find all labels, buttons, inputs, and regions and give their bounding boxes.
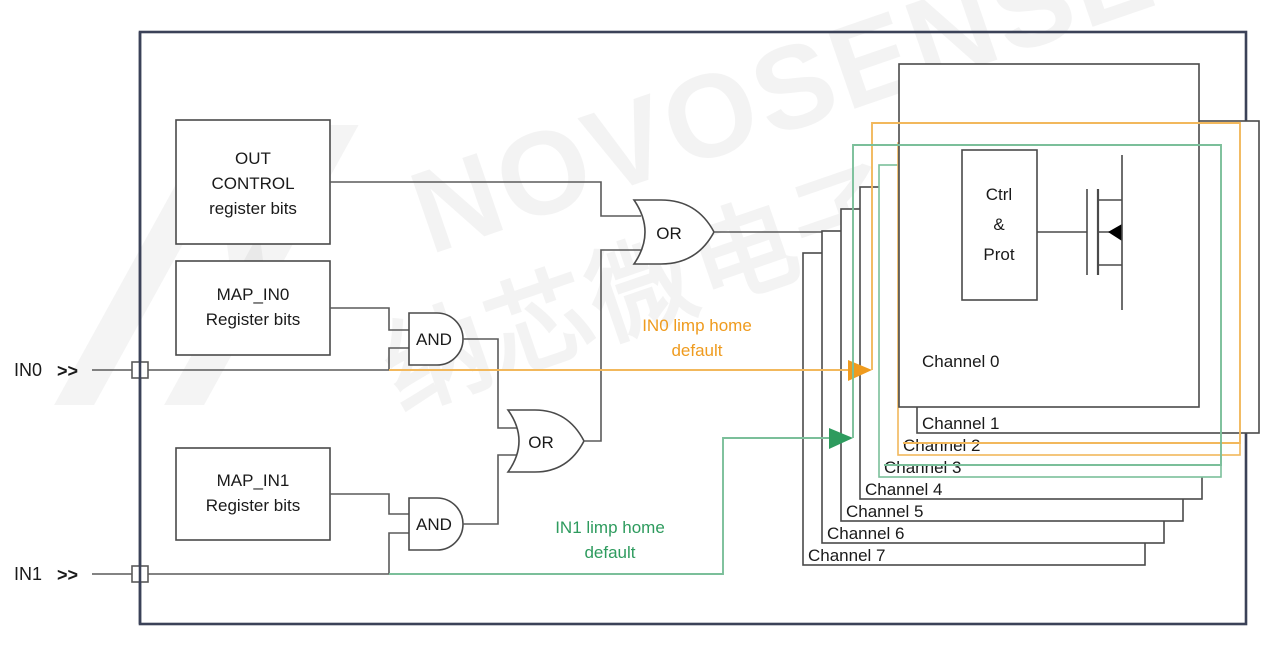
- channel-5-label: Channel 5: [846, 502, 924, 521]
- ctrl-prot-line-1: Ctrl: [986, 185, 1012, 204]
- gate-and-in1-label: AND: [416, 515, 452, 534]
- block-out-control-line-1: OUT: [235, 149, 271, 168]
- block-map-in1: [176, 448, 330, 540]
- channel-7-label: Channel 7: [808, 546, 886, 565]
- annotation-in0-limp-line-1: IN0 limp home: [642, 316, 752, 335]
- gate-or-upper-label: OR: [656, 224, 682, 243]
- annotation-in0-limp-line-2: default: [671, 341, 722, 360]
- ctrl-prot-line-2: &: [993, 215, 1005, 234]
- channel-3-label: Channel 3: [884, 458, 962, 477]
- block-map-in0: [176, 261, 330, 355]
- block-out-control-line-2: CONTROL: [211, 174, 294, 193]
- block-map-in1-line-2: Register bits: [206, 496, 300, 515]
- wire-in1-to-and1: [389, 533, 409, 574]
- annotation-in1-limp-line-2: default: [584, 543, 635, 562]
- block-map-in0-line-2: Register bits: [206, 310, 300, 329]
- pin-in0-marker-icon: >>: [57, 361, 78, 381]
- annotation-in1-limp-line-1: IN1 limp home: [555, 518, 665, 537]
- pin-in0-label: IN0: [14, 360, 42, 380]
- channel-6-label: Channel 6: [827, 524, 905, 543]
- channel-1-label: Channel 1: [922, 414, 1000, 433]
- channel-card-0[interactable]: Ctrl & Prot: [899, 64, 1199, 407]
- channel-2-label: Channel 2: [903, 436, 981, 455]
- gate-and-in0: AND: [409, 313, 463, 365]
- gate-or-lower: OR: [508, 410, 584, 472]
- ctrl-prot-line-3: Prot: [983, 245, 1014, 264]
- gate-and-in0-label: AND: [416, 330, 452, 349]
- channel-0-label: Channel 0: [922, 352, 1000, 371]
- gate-or-lower-label: OR: [528, 433, 554, 452]
- wire-and1-to-or-lower: [463, 455, 517, 524]
- block-map-in1-line-1: MAP_IN1: [217, 471, 290, 490]
- block-diagram-svg: NOVOSENSE 纳芯微电子 OUT CONTROL register bit…: [0, 0, 1268, 645]
- gate-and-in1: AND: [409, 498, 463, 550]
- pin-in1-marker-icon: >>: [57, 565, 78, 585]
- block-map-in0-line-1: MAP_IN0: [217, 285, 290, 304]
- wire-mapin1-to-and1: [330, 494, 409, 514]
- pin-in1-label: IN1: [14, 564, 42, 584]
- block-out-control-line-3: register bits: [209, 199, 297, 218]
- channel-4-label: Channel 4: [865, 480, 943, 499]
- diagram-canvas: NOVOSENSE 纳芯微电子 OUT CONTROL register bit…: [0, 0, 1268, 645]
